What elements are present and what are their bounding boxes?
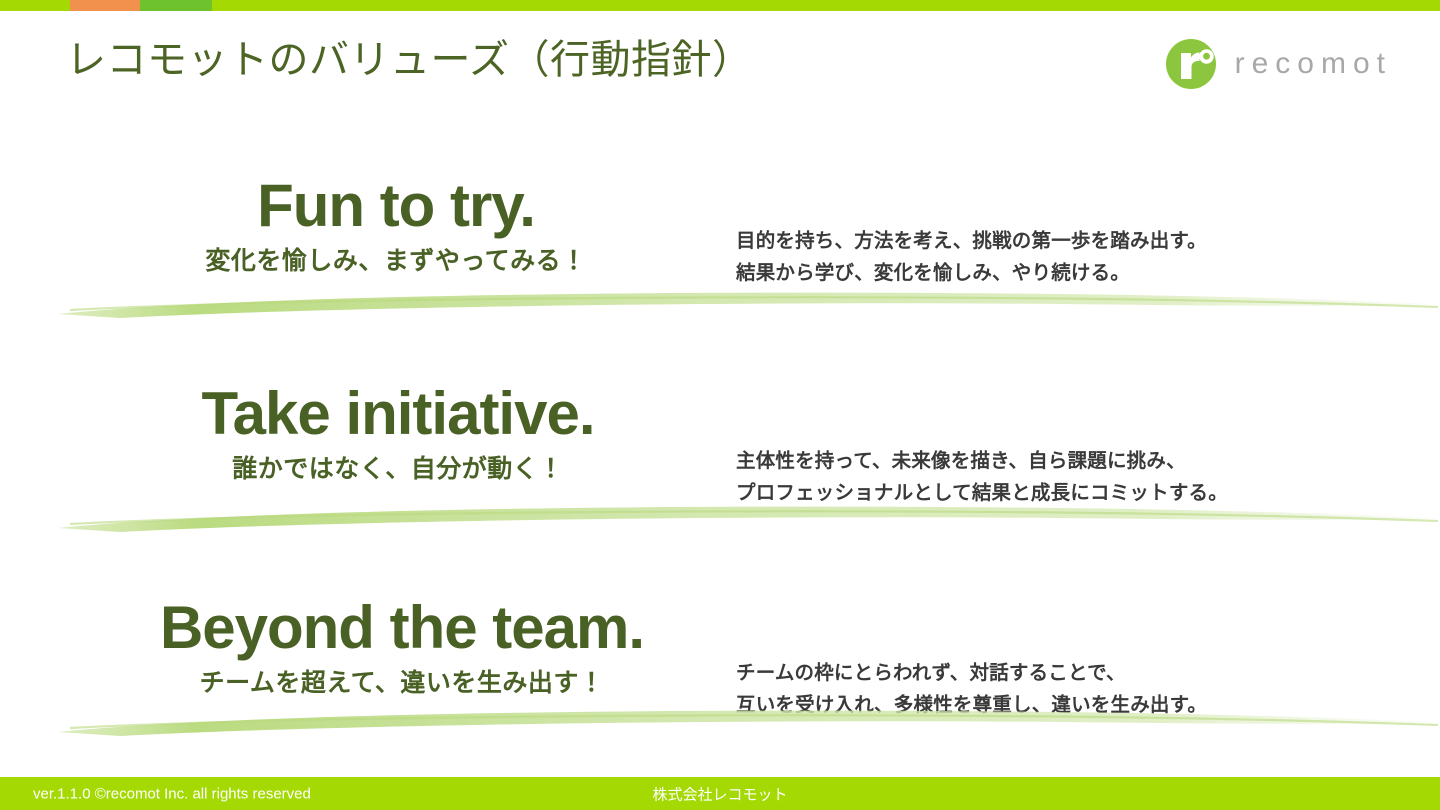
brand-logo: recomot: [1165, 36, 1392, 92]
recomot-mark-icon: [1165, 36, 1221, 92]
value-title-en-2: Take initiative.: [150, 384, 646, 444]
slide-canvas: レコモットのバリューズ（行動指針） recomot Fun to try. 変化…: [0, 0, 1440, 810]
value-description-2: 主体性を持って、未来像を描き、自ら課題に挑み、 プロフェッショナルとして結果と成…: [736, 446, 1228, 509]
value-description-line: 結果から学び、変化を愉しみ、やり続ける。: [736, 258, 1207, 290]
value-description-line: 目的を持ち、方法を考え、挑戦の第一歩を踏み出す。: [736, 226, 1207, 258]
accent-segment-orange: [70, 0, 140, 11]
page-title: レコモットのバリューズ（行動指針）: [66, 38, 753, 82]
value-description-3: チームの枠にとらわれず、対話することで、 互いを受け入れ、多様性を尊重し、違いを…: [736, 658, 1207, 721]
value-heading-group-1: Fun to try. 変化を愉しみ、まずやってみる！: [196, 176, 596, 276]
value-description-line: チームの枠にとらわれず、対話することで、: [736, 658, 1207, 690]
value-description-line: 互いを受け入れ、多様性を尊重し、違いを生み出す。: [736, 690, 1207, 722]
brush-divider-3: [0, 706, 1440, 740]
brand-wordmark: recomot: [1235, 47, 1392, 81]
value-title-ja-1: 変化を愉しみ、まずやってみる！: [196, 248, 596, 276]
top-accent-bar: [0, 0, 1440, 11]
value-title-ja-2: 誰かではなく、自分が動く！: [150, 456, 646, 484]
footer-copyright: ver.1.1.0 ©recomot Inc. all rights reser…: [33, 785, 311, 802]
value-heading-group-3: Beyond the team. チームを超えて、違いを生み出す！: [100, 598, 704, 698]
footer-bar: 株式会社レコモット ver.1.1.0 ©recomot Inc. all ri…: [0, 777, 1440, 810]
value-title-ja-3: チームを超えて、違いを生み出す！: [100, 670, 704, 698]
value-title-en-3: Beyond the team.: [100, 598, 704, 658]
value-description-line: 主体性を持って、未来像を描き、自ら課題に挑み、: [736, 446, 1228, 478]
accent-segment-green-left: [0, 0, 70, 11]
brush-divider-1: [0, 288, 1440, 322]
value-title-en-1: Fun to try.: [196, 176, 596, 236]
accent-segment-mid-green: [140, 0, 212, 11]
value-description-line: プロフェッショナルとして結果と成長にコミットする。: [736, 478, 1228, 510]
accent-segment-green-right: [212, 0, 1440, 11]
value-heading-group-2: Take initiative. 誰かではなく、自分が動く！: [150, 384, 646, 484]
value-description-1: 目的を持ち、方法を考え、挑戦の第一歩を踏み出す。 結果から学び、変化を愉しみ、や…: [736, 226, 1207, 289]
